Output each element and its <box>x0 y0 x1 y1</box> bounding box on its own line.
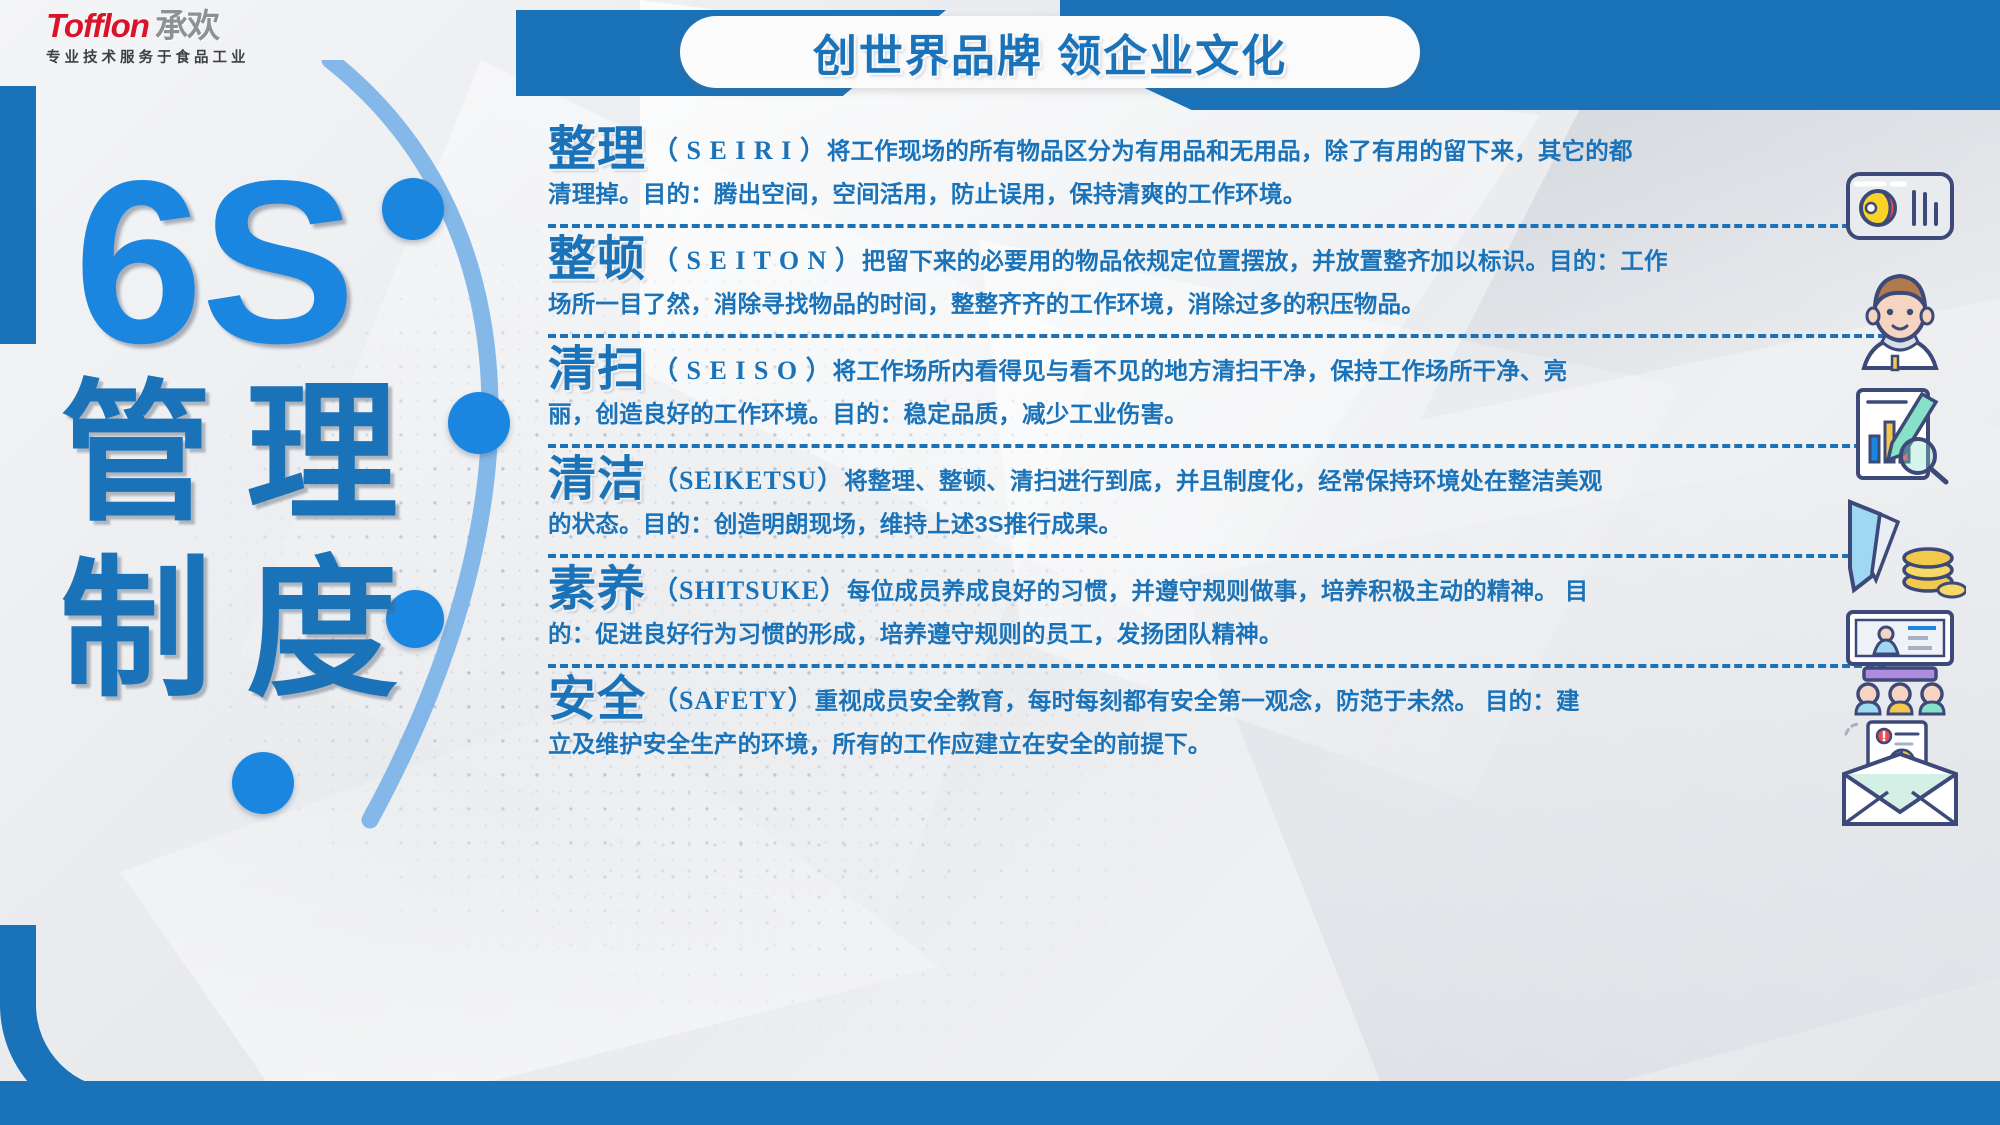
row-seiso-term: 清扫 <box>548 343 646 396</box>
hero-char-li: 理 <box>246 378 398 530</box>
scientist-person-icon <box>1834 264 1966 374</box>
logo-tagline: 专业技术服务于食品工业 <box>46 46 296 67</box>
arc-node-1 <box>382 178 444 240</box>
row-safety-line1: 安全（SAFETY）重视成员安全教育，每时每刻都有安全第一观念，防范于未然。 目… <box>548 678 1928 723</box>
row-seiri-term: 整理 <box>548 123 646 176</box>
row-seiri: 整理（ S E I R I ）将工作现场的所有物品区分为有用品和无用品，除了有用… <box>548 128 1928 216</box>
row-shitsuke-term: 素养 <box>548 563 646 616</box>
hero-6s-label: 6S <box>74 148 354 378</box>
row-shitsuke-text1: 每位成员养成良好的习惯，并遵守规则做事，培养积极主动的精神。 目 <box>847 578 1588 604</box>
row-seiketsu-romaji: （SEIKETSU） <box>652 466 844 495</box>
row-seiso-line1: 清扫（ S E I S O ）将工作场所内看得见与看不见的地方清扫干净，保持工作… <box>548 348 1928 393</box>
row-seiri-text1: 将工作现场的所有物品区分为有用品和无用品，除了有用的留下来，其它的都 <box>827 138 1633 164</box>
row-safety: 安全（SAFETY）重视成员安全教育，每时每刻都有安全第一观念，防范于未然。 目… <box>548 678 1928 766</box>
row-seiketsu-text2: 的状态。目的：创造明朗现场，维持上述3S推行成果。 <box>548 503 1928 546</box>
pen-coins-icon <box>1834 494 1966 604</box>
row-seiton-text2: 场所一目了然，消除寻找物品的时间，整整齐齐的工作环境，消除过多的积压物品。 <box>548 283 1928 326</box>
logo-wordmark: Tofflon承欢 <box>46 8 296 44</box>
hero-char-zhi: 制 <box>60 554 212 706</box>
divider-4 <box>548 554 1886 558</box>
row-seiso-text1: 将工作场所内看得见与看不见的地方清扫干净，保持工作场所干净、亮 <box>833 358 1568 384</box>
bottom-blue-bar <box>0 1081 2000 1125</box>
poster-root: Tofflon承欢 专业技术服务于食品工业 创世界品牌 领企业文化 6S 管 理… <box>0 0 2000 1125</box>
warning-light-panel-icon <box>1834 152 1966 262</box>
row-safety-text1: 重视成员安全教育，每时每刻都有安全第一观念，防范于未然。 目的：建 <box>815 688 1580 714</box>
arc-node-2 <box>448 392 510 454</box>
row-seiri-line1: 整理（ S E I R I ）将工作现场的所有物品区分为有用品和无用品，除了有用… <box>548 128 1928 173</box>
content-rows: 整理（ S E I R I ）将工作现场的所有物品区分为有用品和无用品，除了有用… <box>548 128 1928 774</box>
row-seiton-term: 整顿 <box>548 233 646 286</box>
row-seiton-romaji: （ S E I T O N ） <box>652 246 862 275</box>
page-title: 创世界品牌 领企业文化 <box>680 16 1420 88</box>
report-magnifier-icon <box>1834 380 1966 490</box>
logo-chinese-text: 承欢 <box>155 7 219 44</box>
envelope-alert-icon <box>1834 718 1966 828</box>
row-seiso-romaji: （ S E I S O ） <box>652 356 833 385</box>
divider-3 <box>548 444 1886 448</box>
row-safety-term: 安全 <box>548 673 646 726</box>
logo-latin-text: Tofflon <box>46 7 149 44</box>
row-seiketsu-line1: 清洁（SEIKETSU）将整理、整顿、清扫进行到底，并且制度化，经常保持环境处在… <box>548 458 1928 503</box>
divider-2 <box>548 334 1886 338</box>
row-shitsuke: 素养（SHITSUKE）每位成员养成良好的习惯，并遵守规则做事，培养积极主动的精… <box>548 568 1928 656</box>
hero-char-du: 度 <box>246 554 398 706</box>
row-seiton-text1: 把留下来的必要用的物品依规定位置摆放，并放置整齐加以标识。目的：工作 <box>862 248 1668 274</box>
row-safety-text2: 立及维护安全生产的环境，所有的工作应建立在安全的前提下。 <box>548 723 1928 766</box>
row-shitsuke-text2: 的：促进良好行为习惯的形成，培养遵守规则的员工，发扬团队精神。 <box>548 613 1928 656</box>
brand-logo: Tofflon承欢 专业技术服务于食品工业 <box>46 8 296 70</box>
row-seiso-text2: 丽，创造良好的工作环境。目的：稳定品质，减少工业伤害。 <box>548 393 1928 436</box>
row-seiketsu-term: 清洁 <box>548 453 646 506</box>
row-seiton: 整顿（ S E I T O N ）把留下来的必要用的物品依规定位置摆放，并放置整… <box>548 238 1928 326</box>
arc-node-4 <box>232 752 294 814</box>
row-seiri-text2: 清理掉。目的：腾出空间，空间活用，防止误用，保持清爽的工作环境。 <box>548 173 1928 216</box>
row-seiso: 清扫（ S E I S O ）将工作场所内看得见与看不见的地方清扫干净，保持工作… <box>548 348 1928 436</box>
hero-char-guan: 管 <box>60 378 212 530</box>
divider-1 <box>548 224 1886 228</box>
row-seiri-romaji: （ S E I R I ） <box>652 136 827 165</box>
row-shitsuke-line1: 素养（SHITSUKE）每位成员养成良好的习惯，并遵守规则做事，培养积极主动的精… <box>548 568 1928 613</box>
row-shitsuke-romaji: （SHITSUKE） <box>652 576 847 605</box>
left-blue-bar <box>0 86 36 344</box>
divider-5 <box>548 664 1886 668</box>
row-seiton-line1: 整顿（ S E I T O N ）把留下来的必要用的物品依规定位置摆放，并放置整… <box>548 238 1928 283</box>
row-seiketsu: 清洁（SEIKETSU）将整理、整顿、清扫进行到底，并且制度化，经常保持环境处在… <box>548 458 1928 546</box>
presentation-audience-icon <box>1834 606 1966 716</box>
row-seiketsu-text1: 将整理、整顿、清扫进行到底，并且制度化，经常保持环境处在整洁美观 <box>844 468 1602 494</box>
row-safety-romaji: （SAFETY） <box>652 686 815 715</box>
